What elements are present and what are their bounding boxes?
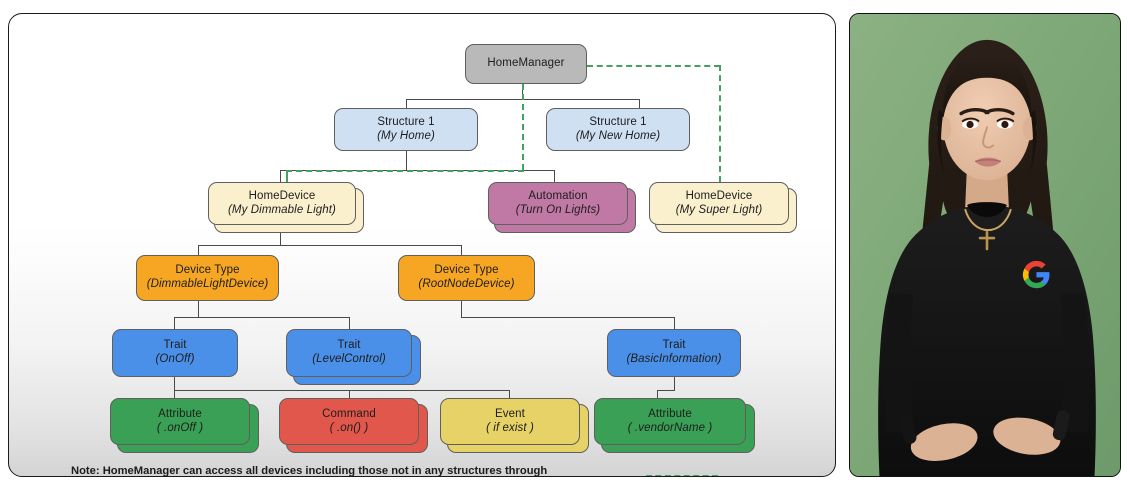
hierarchy-diagram: HomeManager Structure 1 (My Home) Struct… bbox=[9, 14, 835, 476]
presenter-image bbox=[850, 14, 1120, 476]
connector-bus-to-event bbox=[509, 390, 510, 398]
node-trait-basicinformation[interactable]: Trait (BasicInformation) bbox=[607, 329, 741, 377]
node-event-ifexist-line2: ( if exist ) bbox=[486, 422, 534, 436]
node-device-type-dimmable-line2: (DimmableLightDevice) bbox=[147, 278, 269, 292]
node-home-manager-line1: HomeManager bbox=[487, 57, 564, 71]
connector-s1-to-hd1 bbox=[280, 170, 281, 182]
node-home-device-super-line1: HomeDevice bbox=[686, 190, 753, 204]
node-command-on-line1: Command bbox=[322, 408, 376, 422]
node-command-on-line2: ( .on() ) bbox=[330, 422, 369, 436]
node-trait-level-line2: (LevelControl) bbox=[312, 353, 386, 367]
node-command-on[interactable]: Command ( .on() ) bbox=[279, 398, 419, 445]
node-structure-my-home-line1: Structure 1 bbox=[377, 116, 434, 130]
node-device-type-rootnode-line2: (RootNodeDevice) bbox=[418, 278, 514, 292]
connector-dt1-to-onoff bbox=[174, 317, 175, 329]
connector-dt2-down bbox=[461, 301, 462, 317]
node-event-ifexist-line1: Event bbox=[495, 408, 525, 422]
node-attribute-vendorname-line1: Attribute bbox=[648, 408, 692, 422]
node-event-ifexist[interactable]: Event ( if exist ) bbox=[440, 398, 580, 445]
dashed-line-legend-icon bbox=[646, 475, 718, 477]
connector-bus-to-command bbox=[349, 390, 350, 398]
node-device-type-dimmable-line1: Device Type bbox=[175, 264, 239, 278]
node-trait-basicinformation-line2: (BasicInformation) bbox=[626, 353, 721, 367]
node-home-device-super[interactable]: HomeDevice (My Super Light) bbox=[649, 182, 789, 225]
node-trait-basicinformation-line1: Trait bbox=[662, 339, 685, 353]
connector-hm-to-s2 bbox=[639, 99, 640, 108]
node-structure-my-home[interactable]: Structure 1 (My Home) bbox=[334, 108, 478, 151]
dashed-to-hd1 bbox=[286, 170, 524, 172]
connector-dt2-bus bbox=[461, 317, 675, 318]
node-trait-level[interactable]: Trait (LevelControl) bbox=[286, 329, 412, 377]
slide-note: Note: HomeManager can access all devices… bbox=[71, 465, 547, 477]
node-home-device-dimmable-line2: (My Dimmable Light) bbox=[228, 204, 336, 218]
node-device-type-dimmable[interactable]: Device Type (DimmableLightDevice) bbox=[136, 255, 279, 301]
node-automation[interactable]: Automation (Turn On Lights) bbox=[488, 182, 628, 225]
node-device-type-rootnode-line1: Device Type bbox=[434, 264, 498, 278]
node-home-device-dimmable-line1: HomeDevice bbox=[249, 190, 316, 204]
connector-basic-bus bbox=[657, 390, 675, 391]
node-trait-onoff-line2: (OnOff) bbox=[155, 353, 194, 367]
connector-hd1-to-dt2 bbox=[461, 245, 462, 255]
connector-s1-down bbox=[406, 151, 407, 170]
connector-bus-to-attribute bbox=[174, 390, 175, 398]
dashed-hm-down bbox=[522, 84, 524, 170]
connector-onoff-down bbox=[174, 377, 175, 390]
node-trait-onoff[interactable]: Trait (OnOff) bbox=[112, 329, 238, 377]
connector-dt1-down bbox=[198, 301, 199, 317]
connector-basic-to-vendor bbox=[657, 390, 658, 398]
node-trait-level-line1: Trait bbox=[337, 339, 360, 353]
connector-hm-to-s1 bbox=[406, 99, 407, 108]
node-attribute-vendorname-line2: ( .vendorName ) bbox=[628, 422, 713, 436]
node-home-manager[interactable]: HomeManager bbox=[465, 44, 587, 84]
slide-panel: HomeManager Structure 1 (My Home) Struct… bbox=[8, 13, 836, 477]
connector-hd1-to-dt1 bbox=[198, 245, 199, 255]
slide-stage: HomeManager Structure 1 (My Home) Struct… bbox=[0, 0, 1131, 490]
node-device-type-rootnode[interactable]: Device Type (RootNodeDevice) bbox=[398, 255, 535, 301]
dashed-right-down bbox=[719, 65, 721, 182]
connector-dt1-to-level bbox=[349, 317, 350, 329]
connector-leaf-bus bbox=[174, 390, 510, 391]
connector-s1-to-automation bbox=[554, 170, 555, 182]
node-automation-line1: Automation bbox=[528, 190, 587, 204]
dashed-hm-right bbox=[587, 65, 720, 67]
connector-basic-down bbox=[674, 377, 675, 390]
node-attribute-onoff-line2: ( .onOff ) bbox=[157, 422, 203, 436]
node-structure-my-home-line2: (My Home) bbox=[377, 130, 435, 144]
dashed-hd1-stub bbox=[286, 170, 288, 182]
node-trait-onoff-line1: Trait bbox=[163, 339, 186, 353]
node-structure-my-new-home-line2: (My New Home) bbox=[576, 130, 660, 144]
node-structure-my-new-home-line1: Structure 1 bbox=[589, 116, 646, 130]
node-home-device-super-line2: (My Super Light) bbox=[676, 204, 763, 218]
connector-hd1-bus bbox=[198, 245, 462, 246]
node-attribute-onoff[interactable]: Attribute ( .onOff ) bbox=[110, 398, 250, 445]
presenter-video-panel[interactable] bbox=[849, 13, 1121, 477]
connector-dt1-bus bbox=[174, 317, 350, 318]
node-attribute-onoff-line1: Attribute bbox=[158, 408, 202, 422]
node-structure-my-new-home[interactable]: Structure 1 (My New Home) bbox=[546, 108, 690, 151]
node-attribute-vendorname[interactable]: Attribute ( .vendorName ) bbox=[594, 398, 746, 445]
connector-dt2-to-basic bbox=[674, 317, 675, 329]
node-home-device-dimmable[interactable]: HomeDevice (My Dimmable Light) bbox=[208, 182, 356, 225]
node-automation-line2: (Turn On Lights) bbox=[516, 204, 600, 218]
